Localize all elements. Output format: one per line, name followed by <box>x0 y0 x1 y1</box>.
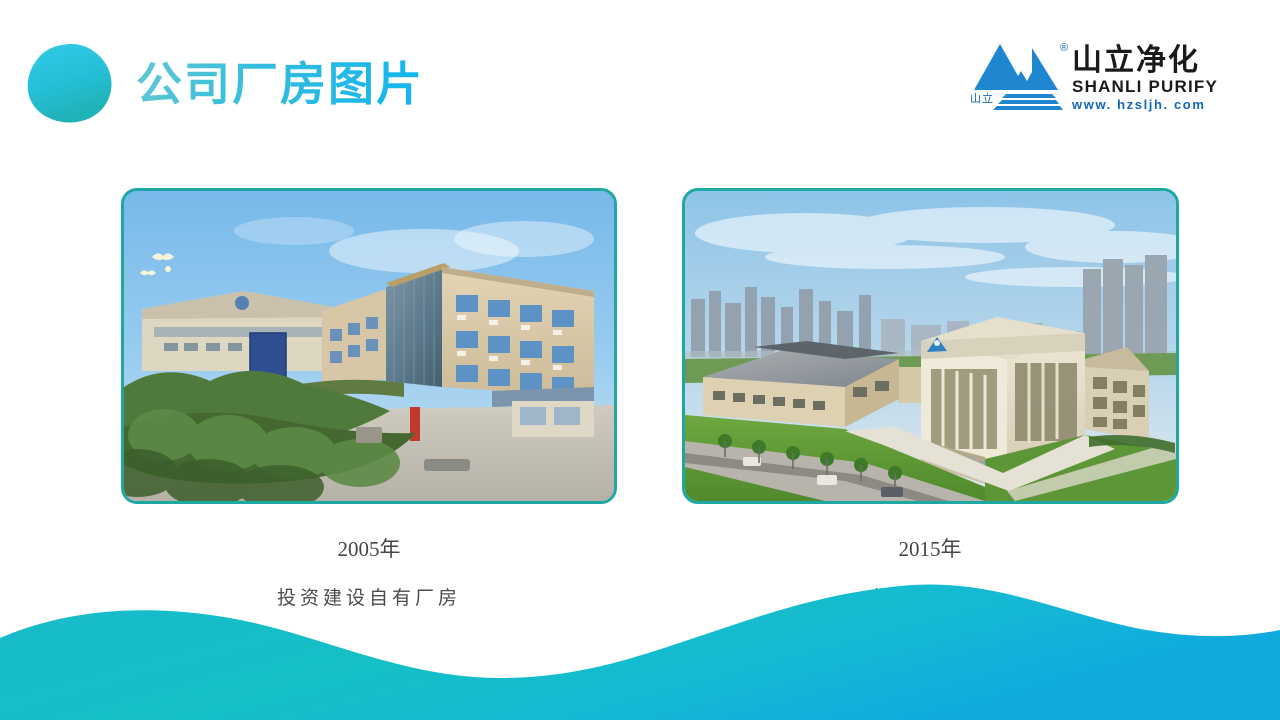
factory-photo-2015-image <box>685 191 1176 501</box>
registered-trademark-icon: ® <box>1060 42 1068 54</box>
bottom-wave-decoration <box>0 560 1280 720</box>
page-title: 公司厂房图片 <box>136 58 424 111</box>
factory-photo-2005[interactable] <box>121 188 617 504</box>
blob-decoration-icon <box>25 42 113 124</box>
slide-canvas: 公司厂房图片 ® 山立 山立净化 SHANLI PURIFY www. hzsl… <box>0 0 1280 720</box>
logo-mark-label: 山立 <box>970 90 994 106</box>
logo-text-block: 山立净化 SHANLI PURIFY www. hzsljh. com <box>1072 38 1218 114</box>
logo-company-name-en: SHANLI PURIFY <box>1072 76 1218 97</box>
logo-company-name-cn: 山立净化 <box>1072 46 1218 76</box>
logo-website: www. hzsljh. com <box>1072 97 1218 114</box>
company-logo: ® 山立 山立净化 SHANLI PURIFY www. hzsljh. com <box>970 38 1218 114</box>
logo-mountain-icon: ® 山立 <box>970 38 1066 112</box>
factory-photo-2015[interactable] <box>682 188 1179 504</box>
factory-photo-2005-image <box>124 191 614 501</box>
